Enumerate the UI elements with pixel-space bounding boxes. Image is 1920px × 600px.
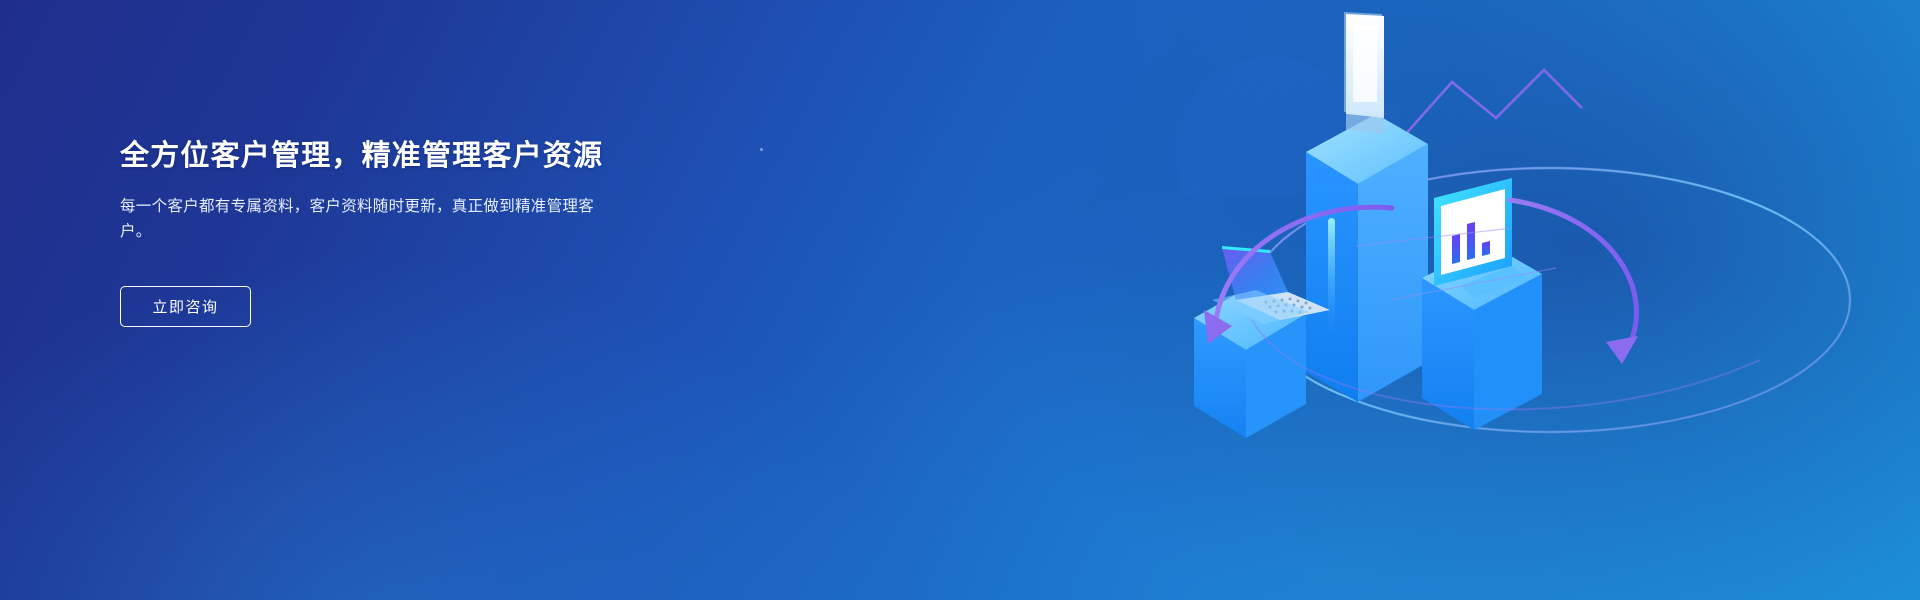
hero-illustration [1160, 0, 1920, 600]
sparkle-dot [760, 148, 763, 151]
monitor-device [1434, 178, 1526, 298]
hero-copy-block: 全方位客户管理，精准管理客户资源 每一个客户都有专属资料，客户资料随时更新，真正… [120, 138, 720, 327]
hero-subtitle: 每一个客户都有专属资料，客户资料随时更新，真正做到精准管理客户。 [120, 194, 602, 244]
center-pedestal [1306, 114, 1428, 402]
page-title: 全方位客户管理，精准管理客户资源 [120, 138, 720, 174]
consult-now-button[interactable]: 立即咨询 [120, 286, 251, 327]
hero-banner: 全方位客户管理，精准管理客户资源 每一个客户都有专属资料，客户资料随时更新，真正… [0, 0, 1920, 600]
zigzag-line [1404, 70, 1582, 136]
tablet-device [1344, 12, 1384, 134]
